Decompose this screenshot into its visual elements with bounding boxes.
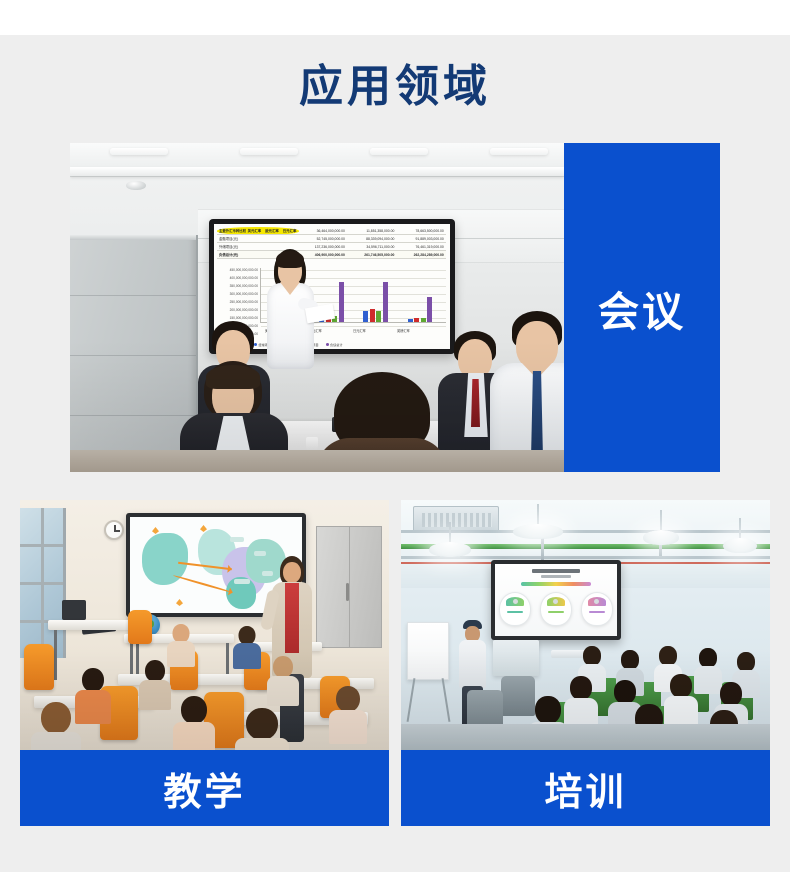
attendee-person bbox=[490, 311, 564, 472]
legend-item: 负债总计 bbox=[326, 342, 343, 347]
smoke-detector-icon bbox=[126, 181, 146, 190]
training-label-panel: 培训 bbox=[401, 750, 770, 826]
table-header-cell: 欧元汇率 bbox=[263, 227, 281, 235]
table-header-cell: 日元汇率 bbox=[281, 227, 299, 235]
meeting-label: 会议 bbox=[598, 278, 686, 338]
student-person bbox=[172, 696, 216, 750]
y-tick-label: 400,000,000,000.00 bbox=[230, 276, 258, 280]
bar-group bbox=[363, 282, 388, 322]
pendant-light-icon bbox=[513, 504, 563, 542]
storage-cabinet bbox=[316, 526, 382, 648]
student-person bbox=[266, 656, 300, 704]
presenter-person bbox=[262, 249, 320, 369]
infographic-circle bbox=[499, 592, 531, 626]
bar-group bbox=[408, 297, 433, 322]
training-floor bbox=[401, 724, 770, 750]
podium-desk bbox=[493, 640, 539, 676]
table-cell: 262,284,289,000.00 bbox=[396, 251, 445, 259]
table-cell: 76,461,319,000.00 bbox=[396, 243, 445, 251]
table-header-cell: 美元汇率 bbox=[246, 227, 264, 235]
teaching-label-panel: 教学 bbox=[20, 750, 389, 826]
training-presentation-screen[interactable] bbox=[491, 560, 621, 640]
table-row: 外储项目(元) 137,236,000,000.00 34,596,711,00… bbox=[217, 243, 447, 251]
flipchart-easel bbox=[407, 622, 449, 720]
table-row: 金融项目(元) 52,745,000,000.00 88,339,094,000… bbox=[217, 235, 447, 243]
training-label: 培训 bbox=[544, 761, 626, 816]
presentation-slide bbox=[495, 564, 617, 636]
scenario-card-row: 教学 bbox=[20, 500, 770, 826]
x-tick-label: 英镑汇率 bbox=[397, 328, 410, 333]
table-cell: 36,464,000,000.00 bbox=[298, 227, 347, 235]
meeting-room-photo: 主要外汇币种比较 美元汇率 欧元汇率 日元汇率 经常项目(元) 36,464,0… bbox=[70, 143, 564, 472]
student-person bbox=[232, 626, 262, 668]
card-teaching: 教学 bbox=[20, 500, 389, 826]
x-tick-label: 日元汇率 bbox=[353, 328, 366, 333]
y-tick-label: 450,000,000,000.00 bbox=[230, 268, 258, 272]
computer-monitor bbox=[62, 600, 86, 620]
classroom-chair bbox=[128, 610, 152, 644]
slide-title-bar bbox=[532, 569, 580, 573]
pendant-light-icon bbox=[429, 522, 471, 558]
ceiling-light-icon bbox=[490, 148, 548, 155]
meeting-floor bbox=[70, 450, 564, 472]
ceiling-rail bbox=[70, 167, 564, 176]
teaching-label: 教学 bbox=[163, 761, 245, 816]
table-cell: 金融项目(元) bbox=[217, 235, 298, 243]
wall-clock-icon bbox=[104, 520, 124, 540]
ceiling-light-icon bbox=[110, 148, 168, 155]
feature-meeting: 主要外汇币种比较 美元汇率 欧元汇率 日元汇率 经常项目(元) 36,464,0… bbox=[70, 143, 720, 472]
slide-color-ribbon bbox=[521, 582, 591, 586]
student-person bbox=[30, 702, 82, 750]
table-cell: 11,851,358,000.00 bbox=[347, 227, 396, 235]
y-tick-label: 250,000,000,000.00 bbox=[230, 300, 258, 304]
ceiling-light-icon bbox=[370, 148, 428, 155]
map-pin-icon bbox=[176, 599, 183, 606]
slide-infographic-group bbox=[495, 592, 617, 626]
student-person bbox=[234, 708, 290, 750]
card-training: 培训 bbox=[401, 500, 770, 826]
pendant-light-icon bbox=[723, 518, 757, 548]
y-tick-label: 300,000,000,000.00 bbox=[230, 292, 258, 296]
legend-label: 负债总计 bbox=[330, 342, 342, 347]
meeting-ceiling bbox=[70, 143, 564, 177]
student-person bbox=[138, 660, 172, 708]
meeting-label-panel: 会议 bbox=[564, 143, 720, 472]
legend-swatch-icon bbox=[326, 343, 329, 346]
classroom-window bbox=[20, 508, 66, 658]
student-person bbox=[328, 686, 368, 742]
page-root: 应用领域 bbox=[0, 0, 790, 886]
training-room-photo bbox=[401, 500, 770, 750]
y-tick-label: 200,000,000,000.00 bbox=[230, 308, 258, 312]
y-tick-label: 150,000,000,000.00 bbox=[230, 316, 258, 320]
classroom-chair bbox=[24, 644, 54, 690]
classroom-photo bbox=[20, 500, 389, 750]
slide-subtitle-bar bbox=[541, 575, 571, 578]
table-cell: 34,596,711,000.00 bbox=[347, 243, 396, 251]
table-cell: 91,889,003,000.00 bbox=[396, 235, 445, 243]
y-tick-label: 350,000,000,000.00 bbox=[230, 284, 258, 288]
table-cell: 52,745,000,000.00 bbox=[298, 235, 347, 243]
ceiling-light-icon bbox=[240, 148, 298, 155]
screen-data-table: 主要外汇币种比较 美元汇率 欧元汇率 日元汇率 经常项目(元) 36,464,0… bbox=[217, 227, 447, 259]
table-cell: 88,339,094,000.00 bbox=[347, 235, 396, 243]
table-cell: 261,746,505,000.00 bbox=[347, 251, 396, 259]
infographic-circle bbox=[540, 592, 572, 626]
table-header-row: 主要外汇币种比较 美元汇率 欧元汇率 日元汇率 bbox=[217, 227, 299, 235]
table-total-row: 负债总计(元) 406,900,000,000.00 261,746,505,0… bbox=[217, 251, 447, 259]
page-title: 应用领域 bbox=[0, 58, 790, 116]
pendant-light-icon bbox=[643, 510, 679, 542]
table-header-cell: 主要外汇币种比较 bbox=[217, 227, 246, 235]
table-cell: 78,663,500,000.00 bbox=[396, 227, 445, 235]
infographic-circle bbox=[581, 592, 613, 626]
